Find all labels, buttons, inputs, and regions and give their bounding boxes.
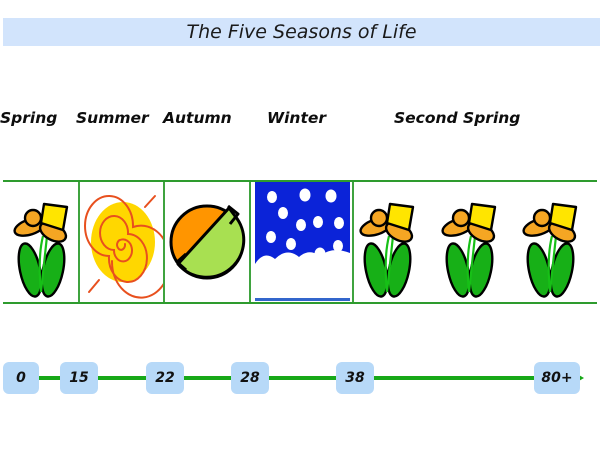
strip-bottom-rule (3, 302, 597, 304)
title-band: The Five Seasons of Life (3, 18, 600, 46)
panel-divider-1 (78, 182, 80, 302)
winter-snow-panel (252, 182, 352, 302)
season-label-row: Spring Summer Autumn Winter Second Sprin… (0, 106, 600, 130)
panel-divider-3 (249, 182, 251, 302)
slide-root: { "title": { "text": "The Five Seasons o… (0, 0, 600, 450)
timeline-node-38[interactable]: 38 (336, 362, 374, 394)
timeline-node-28[interactable]: 28 (231, 362, 269, 394)
panel-divider-4 (352, 182, 354, 302)
flower-icon (3, 182, 78, 302)
half-circle-icon (166, 182, 248, 302)
season-label-winter: Winter (267, 106, 326, 130)
second-spring-panel (355, 182, 597, 302)
three-flowers-icon (355, 182, 597, 302)
season-label-second-spring: Second Spring (394, 106, 520, 130)
timeline-node-15[interactable]: 15 (60, 362, 98, 394)
timeline-node-22[interactable]: 22 (146, 362, 184, 394)
page-title: The Five Seasons of Life (3, 18, 600, 46)
snowfall-icon (252, 182, 352, 302)
sun-spiral-icon (81, 182, 163, 302)
timeline-node-0[interactable]: 0 (3, 362, 39, 394)
autumn-leaf-panel (166, 182, 248, 302)
panel-divider-2 (163, 182, 165, 302)
summer-sun-panel (81, 182, 163, 302)
age-timeline: 0 15 22 28 38 80+ (0, 360, 600, 396)
season-label-summer: Summer (76, 106, 149, 130)
illustration-strip (3, 180, 597, 304)
spring-flower-panel (3, 182, 78, 302)
season-label-spring: Spring (0, 106, 57, 130)
timeline-node-80plus[interactable]: 80+ (534, 362, 580, 394)
timeline-axis-line (14, 376, 574, 380)
season-label-autumn: Autumn (163, 106, 232, 130)
